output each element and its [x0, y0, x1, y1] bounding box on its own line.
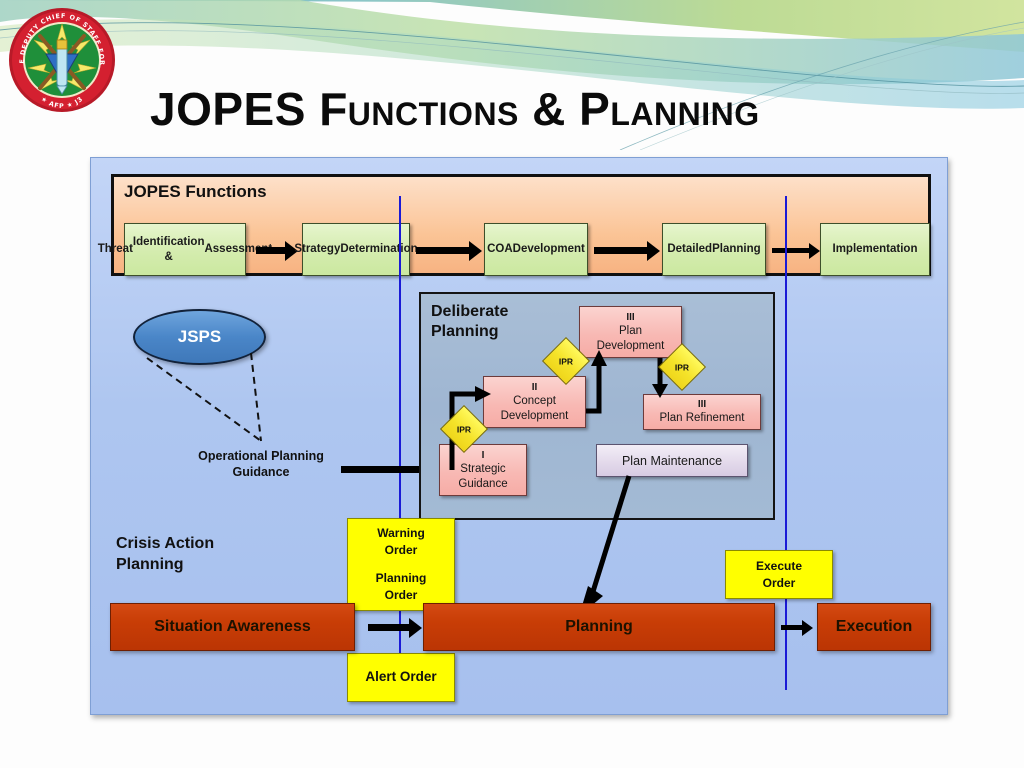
phase-box-line: Concept: [513, 394, 556, 409]
function-box-line: Threat: [98, 242, 133, 256]
opg-line: Operational Planning: [181, 448, 341, 464]
function-box-line: Identification &: [133, 235, 205, 264]
ipr-label: IPR: [447, 413, 481, 447]
function-box-line: Planning: [712, 242, 761, 256]
cap-title-line: Planning: [116, 555, 214, 576]
phase-box-line: Guidance: [458, 477, 507, 492]
alert-order-box[interactable]: Alert Order: [347, 653, 455, 702]
order-line: Order: [385, 542, 418, 559]
slide-canvas: OFFICE OF THE DEPUTY CHIEF OF STAFF FOR …: [0, 0, 1024, 768]
afp-j3-seal-logo: OFFICE OF THE DEPUTY CHIEF OF STAFF FOR …: [6, 6, 118, 114]
phase-roman-numeral: III: [626, 311, 634, 324]
cap-bar-label: Situation Awareness: [154, 618, 311, 636]
order-line: Planning: [376, 570, 427, 587]
page-title: JOPES Functions & Planning: [150, 86, 950, 132]
function-box-line: Strategy: [294, 242, 340, 256]
phase-roman-numeral: III: [698, 398, 706, 411]
function-box-line: Implementation: [833, 242, 918, 256]
function-box-line: Development: [513, 242, 585, 256]
phase-box-line: Development: [597, 339, 665, 354]
order-line: Order: [763, 575, 796, 592]
arrow-coa-to-detailed: [594, 247, 648, 254]
crisis-action-planning-title: Crisis Action Planning: [116, 534, 214, 576]
phase-divider-line-right: [785, 196, 787, 690]
phase-box-concept-development[interactable]: II Concept Development: [483, 376, 586, 428]
order-line: Order: [385, 587, 418, 604]
arrow-detailed-to-implementation: [772, 248, 810, 253]
function-box-coa-development[interactable]: COA Development: [484, 223, 588, 276]
phase-roman-numeral: II: [532, 381, 538, 394]
cap-bar-situation-awareness[interactable]: Situation Awareness: [110, 603, 355, 651]
phase-box-strategic-guidance[interactable]: I Strategic Guidance: [439, 444, 527, 496]
jopes-functions-band: JOPES Functions Threat Identification & …: [111, 174, 931, 276]
arrow-threat-to-strategy: [256, 247, 286, 254]
deliberate-planning-panel: Deliberate Planning I Strategic Guidance…: [419, 292, 775, 520]
order-line: Warning: [377, 525, 425, 542]
deliberate-planning-title: Deliberate Planning: [431, 302, 508, 342]
operational-planning-guidance-label: Operational Planning Guidance: [181, 448, 341, 481]
jsps-label: JSPS: [178, 327, 221, 347]
plan-maintenance-box[interactable]: Plan Maintenance: [596, 444, 748, 477]
phase-box-line: Strategic: [460, 462, 505, 477]
phase-box-line: Plan Refinement: [659, 411, 744, 426]
phase-box-plan-development[interactable]: III Plan Development: [579, 306, 682, 358]
execute-order-box[interactable]: Execute Order: [725, 550, 833, 599]
phase-box-line: Development: [501, 409, 569, 424]
deliberate-title-line: Planning: [431, 322, 508, 342]
phase-roman-numeral: I: [482, 449, 485, 462]
function-box-line: Detailed: [667, 242, 712, 256]
phase-box-plan-refinement[interactable]: III Plan Refinement: [643, 394, 761, 430]
function-box-strategy-determination[interactable]: Strategy Determination: [302, 223, 410, 276]
cap-bar-planning[interactable]: Planning: [423, 603, 775, 651]
function-box-detailed-planning[interactable]: Detailed Planning: [662, 223, 766, 276]
jopes-functions-title: JOPES Functions: [124, 182, 267, 202]
arrow-situation-to-planning: [368, 624, 410, 631]
function-box-threat-identification[interactable]: Threat Identification & Assessment: [124, 223, 246, 276]
order-label: Alert Order: [365, 668, 436, 687]
ipr-label: IPR: [665, 351, 699, 385]
order-line: Execute: [756, 558, 802, 575]
arrow-planning-to-execution: [781, 625, 803, 630]
phase-divider-line-left: [399, 196, 401, 690]
warning-planning-order-box[interactable]: Warning Order Planning Order: [347, 518, 455, 611]
function-box-line: Determination: [340, 242, 417, 256]
jsps-oval[interactable]: JSPS: [133, 309, 266, 365]
cap-bar-execution[interactable]: Execution: [817, 603, 931, 651]
arrow-strategy-to-coa: [416, 247, 470, 254]
cap-bar-label: Planning: [565, 618, 633, 636]
function-box-line: COA: [487, 242, 513, 256]
cap-bar-label: Execution: [836, 618, 912, 636]
deliberate-title-line: Deliberate: [431, 302, 508, 322]
opg-line: Guidance: [181, 464, 341, 480]
phase-box-line: Plan: [619, 324, 642, 339]
cap-title-line: Crisis Action: [116, 534, 214, 555]
function-box-implementation[interactable]: Implementation: [820, 223, 930, 276]
plan-maintenance-label: Plan Maintenance: [622, 454, 722, 468]
ipr-label: IPR: [549, 345, 583, 379]
arrow-guidance-to-strategic: [341, 466, 426, 473]
diagram-panel: JOPES Functions Threat Identification & …: [90, 157, 948, 715]
ipr-diamond-1[interactable]: IPR: [440, 405, 488, 453]
